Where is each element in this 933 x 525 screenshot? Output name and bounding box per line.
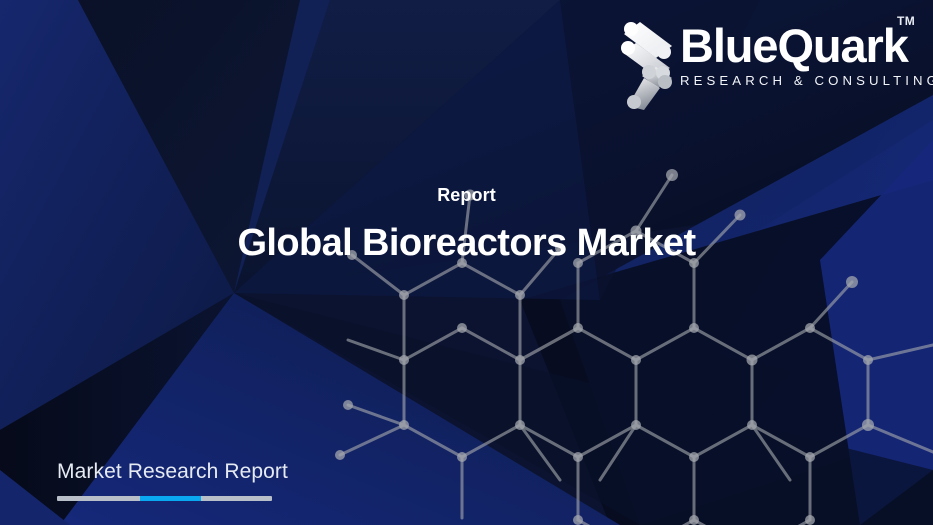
footer-block: Market Research Report (57, 459, 357, 501)
footer-rule-segment-middle (140, 496, 201, 501)
title-group: Report Global Bioreactors Market (0, 184, 933, 266)
page-title: Global Bioreactors Market (0, 220, 933, 266)
footer-rule-segment-right (201, 496, 272, 501)
footer-rule (57, 496, 272, 501)
footer-rule-segment-left (57, 496, 140, 501)
brand-name: BlueQuark (680, 20, 912, 72)
footer-label: Market Research Report (57, 459, 357, 485)
bluequark-chevron-stack-icon (618, 20, 680, 112)
report-cover: BlueQuark RESEARCH & CONSULTING TM Repor… (0, 0, 933, 525)
brand-tagline: RESEARCH & CONSULTING (680, 73, 912, 88)
brand-wordmark: BlueQuark RESEARCH & CONSULTING (680, 20, 912, 88)
brand-logo: BlueQuark RESEARCH & CONSULTING (618, 14, 918, 109)
trademark-symbol: TM (897, 15, 915, 28)
report-kicker: Report (0, 184, 933, 206)
